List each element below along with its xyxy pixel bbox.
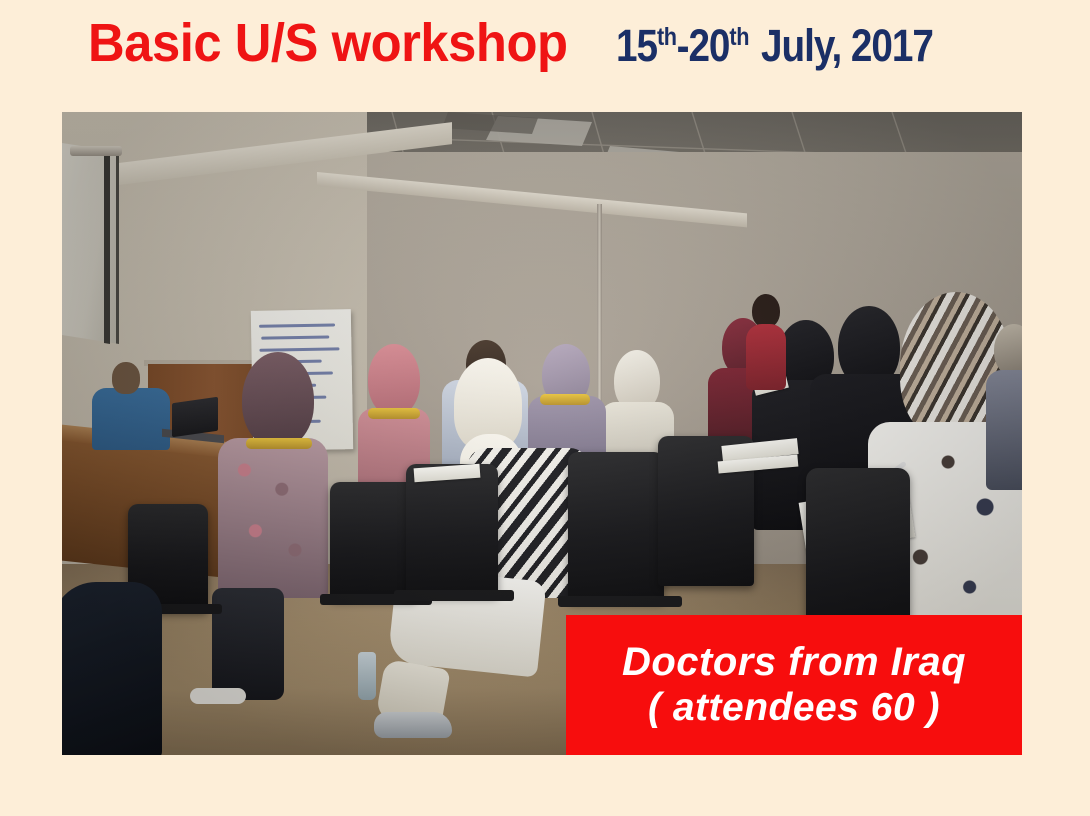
foreground-dark-figure [62, 582, 162, 755]
caption-line-2: ( attendees 60 ) [648, 686, 940, 730]
presenter-laptop [172, 397, 218, 437]
attendee-legs-dark [212, 588, 284, 700]
chair-leg-2 [394, 590, 514, 601]
workshop-date: 15th-20thJuly, 2017 [616, 23, 933, 68]
slide-canvas: Basic U/S workshop15th-20thJuly, 2017 [0, 0, 1090, 816]
ceiling-vent [442, 112, 538, 134]
caption-banner: Doctors from Iraq ( attendees 60 ) [566, 615, 1022, 755]
caption-line-1: Doctors from Iraq [622, 640, 966, 686]
title-line: Basic U/S workshop15th-20thJuly, 2017 [88, 16, 985, 70]
slide-header: Basic U/S workshop15th-20thJuly, 2017 [0, 0, 1090, 112]
presenter-body [92, 388, 170, 450]
date-day-start: 15 [616, 20, 657, 71]
page-title: Basic U/S workshop [88, 16, 568, 70]
lecture-chair-3 [568, 452, 664, 602]
workshop-photo: Doctors from Iraq ( attendees 60 ) [62, 112, 1022, 755]
date-month-year: July, 2017 [761, 20, 933, 71]
date-day-end-suffix: th [730, 23, 750, 51]
water-bottle [358, 652, 376, 700]
attendee-shoe-light [190, 688, 246, 704]
date-separator: - [677, 20, 689, 71]
projector-screen [62, 143, 119, 344]
lecture-chair-1 [330, 482, 416, 600]
attendee-shoe [374, 712, 452, 738]
chair-leg-3 [558, 596, 682, 607]
date-day-start-suffix: th [657, 23, 677, 51]
projector-screen-edge [104, 155, 110, 344]
projector-screen-case [70, 146, 122, 156]
lecture-chair-2 [406, 464, 498, 596]
date-day-end: 20 [689, 20, 730, 71]
presenter-head [112, 362, 140, 394]
